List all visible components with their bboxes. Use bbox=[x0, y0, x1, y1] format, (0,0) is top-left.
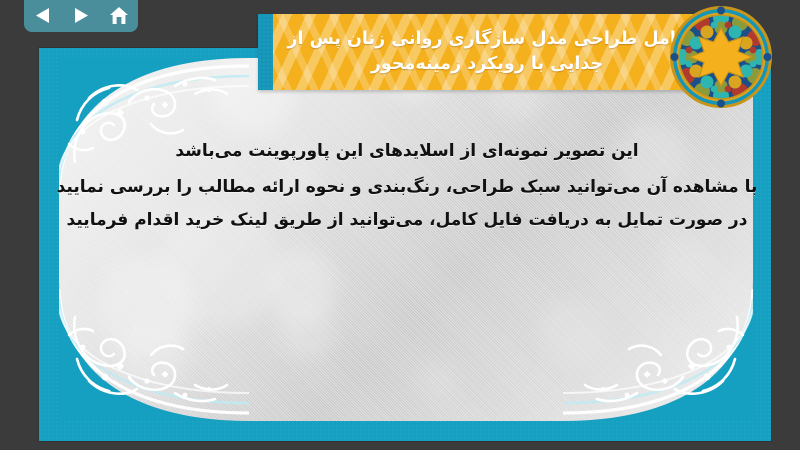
bokeh-decoration bbox=[279, 300, 337, 358]
next-slide-button[interactable] bbox=[68, 3, 94, 27]
bokeh-decoration bbox=[119, 316, 191, 388]
triangle-right-icon bbox=[73, 7, 89, 24]
bokeh-decoration bbox=[419, 358, 459, 398]
body-line-2: با مشاهده آن می‌توانید سبک طراحی، رنگ‌بن… bbox=[50, 174, 764, 202]
page-title: کامل طراحی مدل سازگاری روانی زنان پس از … bbox=[265, 27, 720, 77]
previous-slide-button[interactable] bbox=[30, 3, 56, 27]
slide-title-banner: کامل طراحی مدل سازگاری روانی زنان پس از … bbox=[258, 14, 728, 90]
slide-body-text: این تصویر نمونه‌ای از اسلایدهای این پاور… bbox=[50, 138, 764, 241]
slide-viewer: کامل طراحی مدل سازگاری روانی زنان پس از … bbox=[0, 0, 800, 450]
navigation-toolbar bbox=[24, 0, 138, 32]
home-button[interactable] bbox=[106, 3, 132, 27]
body-line-3: در صورت تمایل به دریافت فایل کامل، می‌تو… bbox=[50, 207, 764, 235]
slide-frame bbox=[39, 48, 771, 441]
ornamental-medallion bbox=[668, 4, 774, 110]
home-icon bbox=[109, 6, 129, 25]
bokeh-decoration bbox=[539, 298, 605, 364]
bokeh-decoration bbox=[659, 238, 709, 288]
body-line-1: این تصویر نمونه‌ای از اسلایدهای این پاور… bbox=[50, 138, 764, 166]
triangle-left-icon bbox=[35, 7, 51, 24]
